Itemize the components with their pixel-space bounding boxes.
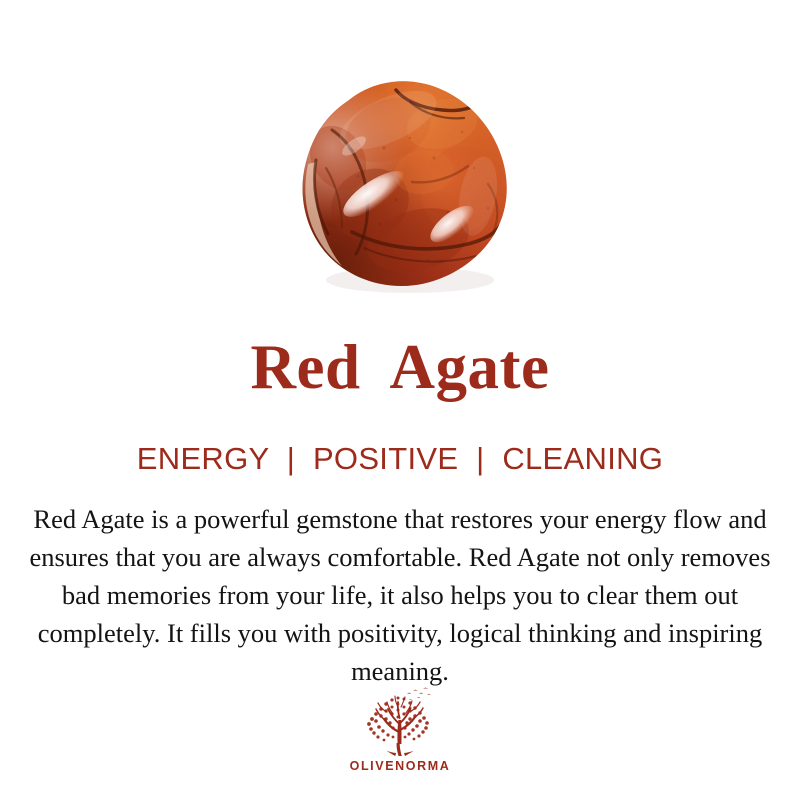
product-info-card: Red Agate ENERGY | POSITIVE | CLEANING R…	[0, 0, 800, 800]
gemstone-image	[292, 72, 518, 294]
brand-wordmark: OLIVENORMA	[350, 760, 451, 773]
hero-image-area	[0, 0, 800, 320]
description-paragraph: Red Agate is a powerful gemstone that re…	[22, 500, 778, 690]
red-agate-stone-illustration	[292, 72, 518, 294]
brand-logo: OLIVENORMA	[0, 686, 800, 773]
keyword-tagline: ENERGY | POSITIVE | CLEANING	[0, 440, 800, 479]
birds-icon	[407, 688, 431, 700]
tree-of-life-with-birds-icon	[357, 686, 443, 758]
page-title: Red Agate	[0, 336, 800, 399]
